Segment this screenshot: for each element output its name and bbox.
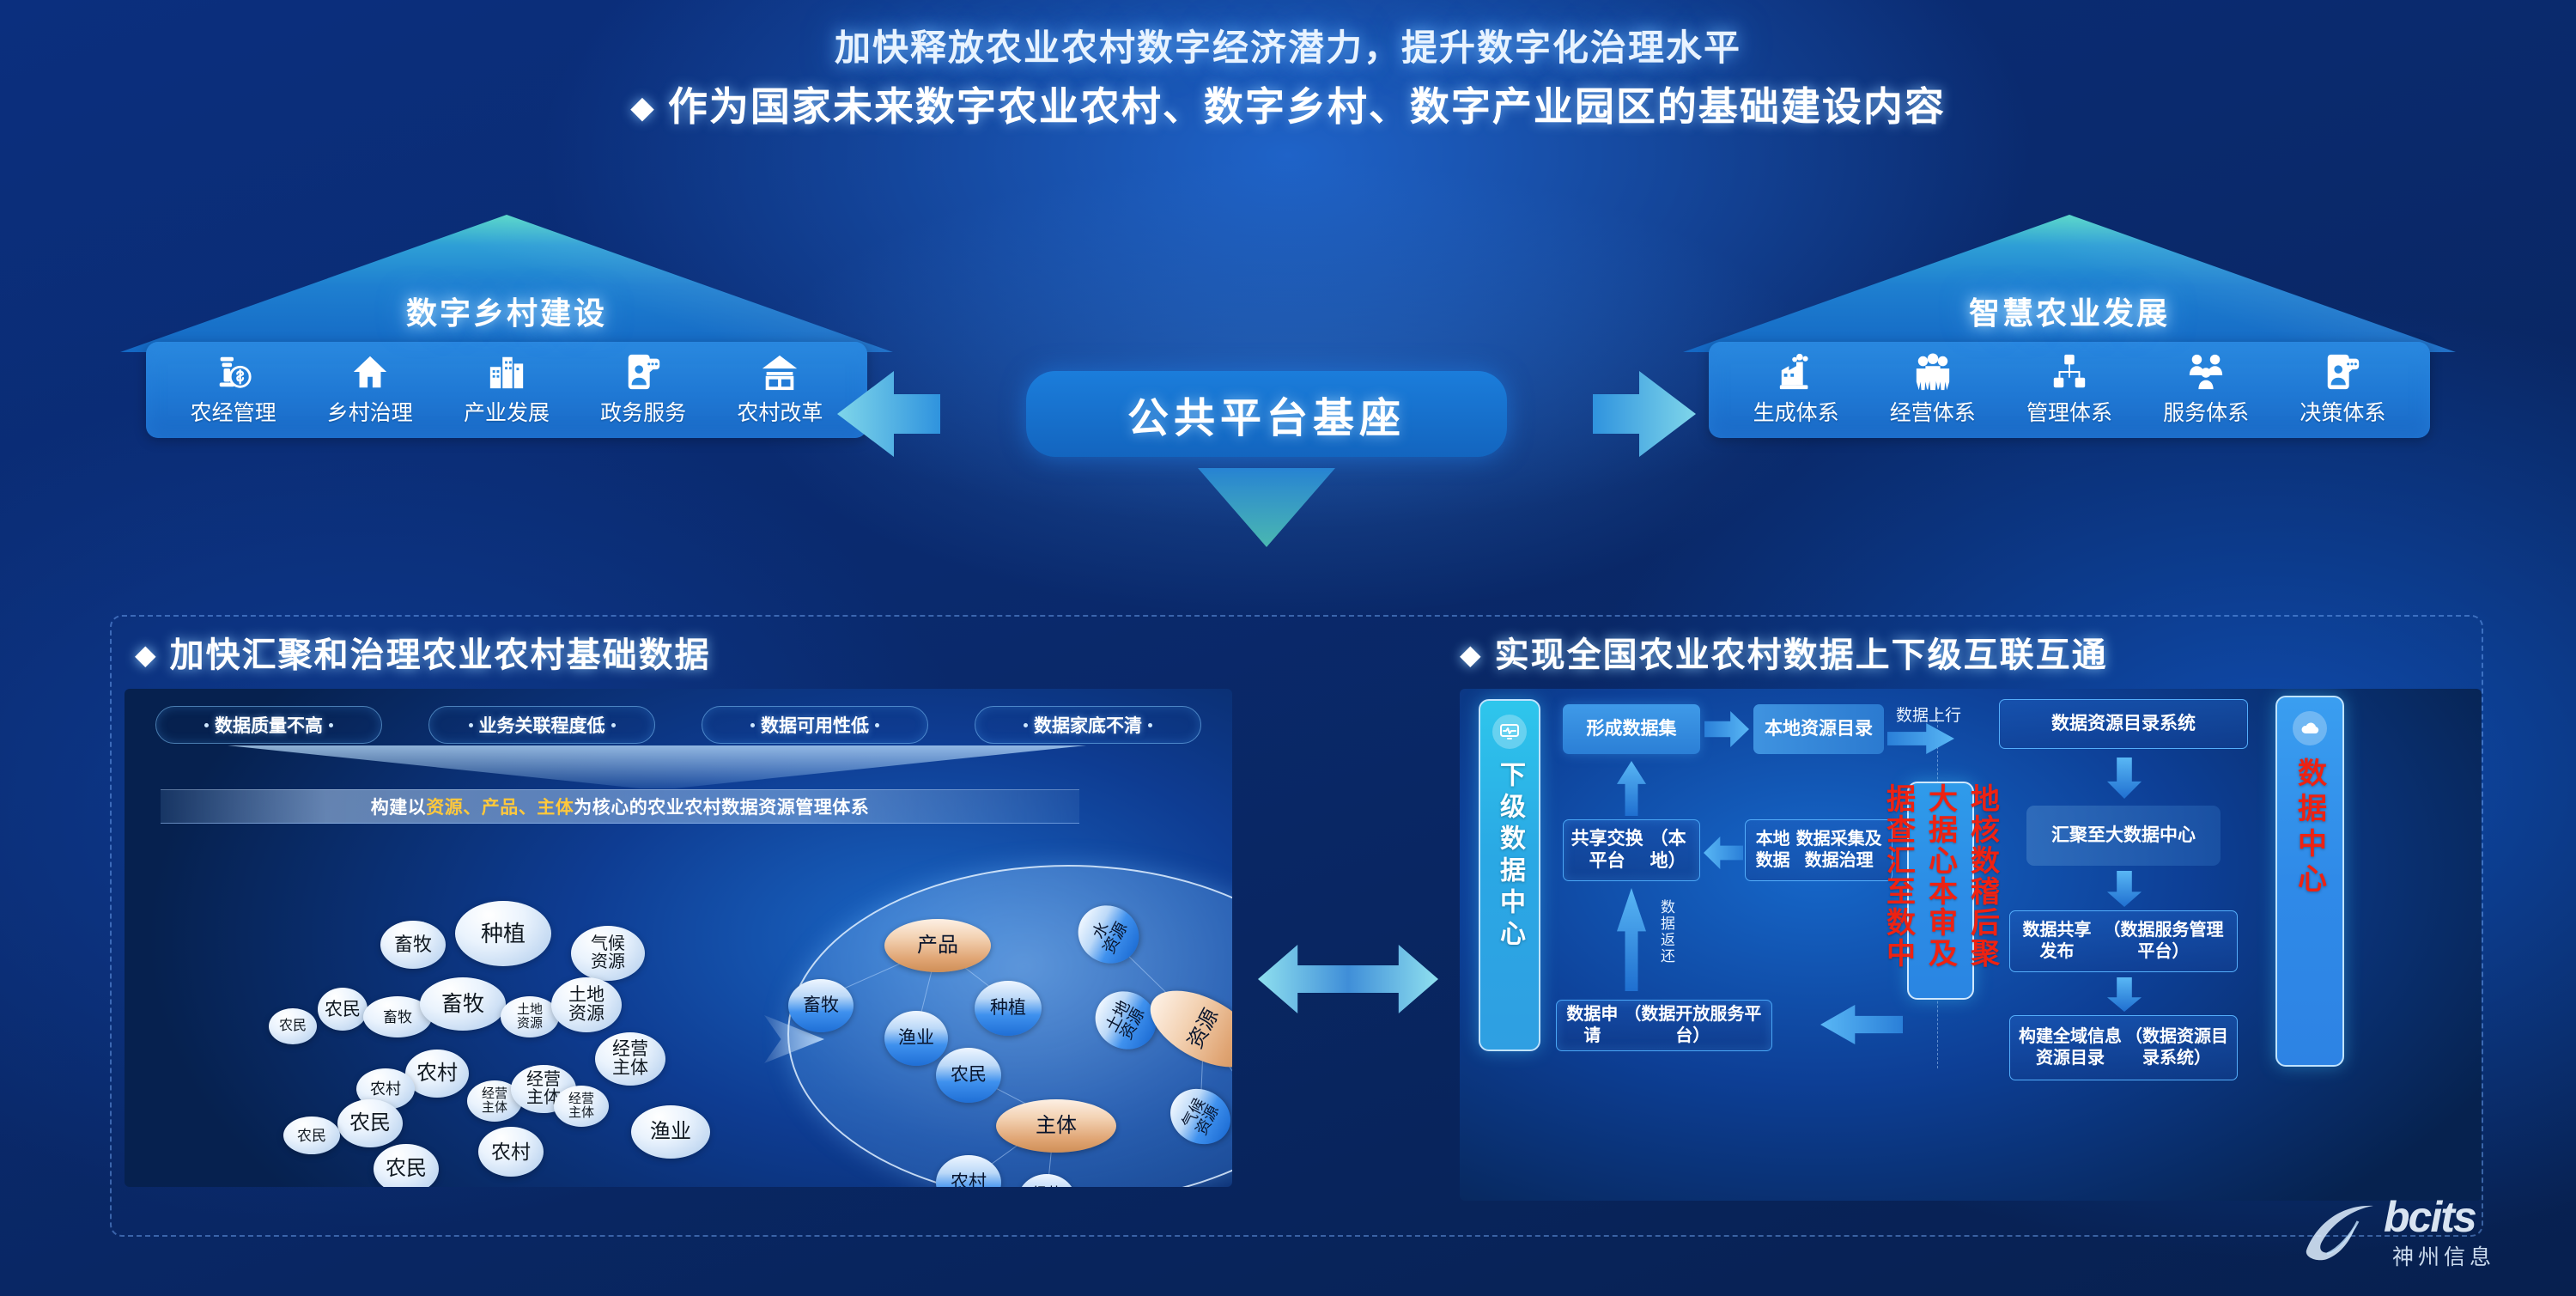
- roof-label-smart-agriculture: 智慧农业发展: [1683, 289, 2456, 333]
- org-chart-icon: [2050, 352, 2089, 392]
- pillar-management-system[interactable]: 管理体系: [2026, 352, 2112, 427]
- arrow-down-2: [2107, 871, 2142, 907]
- raw-data-bubble: 农村: [478, 1127, 544, 1177]
- raw-data-bubble: 农民: [337, 1099, 403, 1147]
- panel-body-right: 下级数据中心 形成数据集 共享交换平台（本地） 数据返还 数据申请（数据开放服务…: [1460, 689, 2482, 1201]
- box-form-dataset[interactable]: 形成数据集: [1563, 704, 1700, 754]
- home-icon: [350, 352, 390, 392]
- pillar-label: 政务服务: [600, 396, 686, 427]
- banner-post: 为核心的农业农村数据资源管理体系: [574, 798, 869, 818]
- people-group-icon: [1913, 352, 1953, 392]
- pillar-government-service[interactable]: 政务服务: [600, 352, 686, 427]
- banner-highlight: 资源、产品、主体: [426, 798, 574, 818]
- arrow-up-data-return: [1617, 888, 1646, 991]
- core-system-banner-text: 构建以资源、产品、主体为核心的农业农村数据资源管理体系: [371, 794, 870, 819]
- pillar-industry-development[interactable]: 产业发展: [464, 352, 550, 427]
- panel-title-right-text: 实现全国农业农村数据上下级互联互通: [1495, 636, 2108, 674]
- raw-data-bubble: 农民: [318, 988, 368, 1031]
- problem-pill[interactable]: 数据家底不清: [975, 706, 1201, 744]
- mobile-service-icon: [2323, 352, 2362, 392]
- company-logo: bcits 神州信息: [2301, 1187, 2559, 1281]
- raw-data-bubble: 农村: [405, 1050, 469, 1098]
- public-platform-base[interactable]: 公共平台基座: [1026, 371, 1507, 457]
- panel-data-aggregation: ◆加快汇聚和治理农业农村基础数据 数据质量不高业务关联程度低数据可用性低数据家底…: [125, 627, 1232, 1228]
- arrow-localdata-to-exchange: [1704, 837, 1743, 869]
- arrow-back-to-apply: [1820, 1005, 1903, 1044]
- panel-title-left-text: 加快汇聚和治理农业农村基础数据: [170, 636, 711, 674]
- pillar-label: 服务体系: [2163, 396, 2249, 427]
- box-exchange-platform[interactable]: 共享交换平台（本地）: [1563, 819, 1700, 881]
- bullet-dot-icon: [1024, 723, 1028, 727]
- organized-data-bubble: 产品: [884, 919, 991, 972]
- panel-data-interconnection: ◆实现全国农业农村数据上下级互联互通 下级数据中心 形成数据集 共享交换平台（本…: [1460, 627, 2482, 1228]
- lower-data-center-label: 下级数据中心: [1491, 761, 1528, 952]
- pillar-label: 管理体系: [2026, 396, 2112, 427]
- box-local-catalog[interactable]: 本地资源目录: [1753, 704, 1884, 754]
- money-management-icon: [214, 352, 253, 392]
- pillar-label: 农经管理: [191, 396, 276, 427]
- bullet-dot-icon: [875, 723, 879, 727]
- pillar-label: 乡村治理: [327, 396, 413, 427]
- bullet-dot-icon: [611, 723, 616, 727]
- monitor-icon: [1492, 715, 1527, 749]
- bullet-dot-icon: [329, 723, 333, 727]
- bullet-dot-icon: [1148, 723, 1152, 727]
- panel-body-left: 数据质量不高业务关联程度低数据可用性低数据家底不清 构建以资源、产品、主体为核心…: [125, 689, 1232, 1187]
- bullet-dot-icon: [204, 723, 209, 727]
- logo-subtitle: 神州信息: [2392, 1240, 2495, 1271]
- data-center-label: 数据中心: [2289, 758, 2331, 898]
- village-house-icon: [760, 352, 799, 392]
- raw-data-bubble: 畜牧: [380, 921, 446, 969]
- box-global-catalog[interactable]: 构建全域信息资源目录（数据资源目录系统）: [2009, 1015, 2238, 1080]
- box-local-data-governance[interactable]: 本地数据数据采集及数据治理: [1745, 819, 1893, 881]
- page-headline-secondary: ◆作为国家未来数字农业农村、数字乡村、数字产业园区的基础建设内容: [0, 76, 2576, 132]
- pillar-decision-system[interactable]: 决策体系: [2300, 352, 2385, 427]
- arrow-down-1: [2107, 758, 2142, 799]
- house-digital-village: 数字乡村建设 农经管理 乡村治理 产业发展 政务服务: [120, 215, 893, 429]
- label-data-return: 数据返还: [1656, 899, 1677, 964]
- arrow-down-3: [2107, 977, 2142, 1012]
- organized-data-bubble: 畜牧: [788, 979, 854, 1032]
- pillar-label: 产业发展: [464, 396, 550, 427]
- arrow-up-to-dataset: [1617, 761, 1646, 816]
- raw-data-bubble: 农民: [283, 1117, 340, 1154]
- pillar-village-governance[interactable]: 乡村治理: [327, 352, 413, 427]
- factory-icon: [1777, 352, 1816, 392]
- problem-pill-label: 业务关联程度低: [479, 712, 605, 738]
- funnel-shape: [228, 745, 1086, 788]
- pillar-label: 决策体系: [2300, 396, 2385, 427]
- pillar-service-system[interactable]: 服务体系: [2163, 352, 2249, 427]
- box-catalog-system[interactable]: 数据资源目录系统: [1999, 699, 2248, 749]
- box-data-publish[interactable]: 数据共享发布（数据服务管理平台）: [2009, 910, 2238, 972]
- house-smart-agriculture: 智慧农业发展 生成体系 经营体系 管理体系 服务体系: [1683, 215, 2456, 429]
- bullet-dot-icon: [750, 723, 755, 727]
- pillar-label: 农村改革: [737, 396, 823, 427]
- diamond-bullet-icon: ◆: [1460, 639, 1483, 670]
- house-base-smart-agriculture: 生成体系 经营体系 管理体系 服务体系 决策体系: [1709, 342, 2430, 438]
- diamond-bullet-icon: ◆: [630, 89, 656, 125]
- pillar-agri-economy[interactable]: 农经管理: [191, 352, 276, 427]
- pillar-rural-reform[interactable]: 农村改革: [737, 352, 823, 427]
- pillar-operation-system[interactable]: 经营体系: [1890, 352, 1976, 427]
- house-base-digital-village: 农经管理 乡村治理 产业发展 政务服务 农村改革: [146, 342, 867, 438]
- data-center-bar[interactable]: 数据中心: [2275, 696, 2344, 1067]
- problem-pill[interactable]: 数据质量不高: [155, 706, 382, 744]
- problem-pill-label: 数据可用性低: [761, 712, 869, 738]
- problem-pill[interactable]: 数据可用性低: [702, 706, 928, 744]
- page-headline-primary: 加快释放农业农村数字经济潜力，提升数字化治理水平: [0, 19, 2576, 71]
- raw-data-bubble: 土地资源: [501, 996, 559, 1037]
- problem-pill[interactable]: 业务关联程度低: [428, 706, 655, 744]
- pillar-production-system[interactable]: 生成体系: [1753, 352, 1839, 427]
- raw-data-bubble: 畜牧: [420, 977, 506, 1031]
- mobile-service-icon: [623, 352, 663, 392]
- panel-title-right: ◆实现全国农业农村数据上下级互联互通: [1460, 627, 2482, 677]
- raw-data-bubble: 种植: [455, 901, 551, 966]
- logo-wordmark: bcits: [2384, 1192, 2476, 1242]
- banner-pre: 构建以: [371, 798, 427, 818]
- red-vertical-note-text: 地核数稽后聚大据心本审及据查汇至数中: [1878, 783, 2004, 998]
- pillar-label: 经营体系: [1890, 396, 1976, 427]
- public-platform-base-label: 公共平台基座: [1127, 384, 1406, 444]
- raw-data-bubble: 农民: [269, 1008, 317, 1044]
- organized-data-bubble: 主体: [996, 1099, 1116, 1153]
- organized-data-bubble: 种植: [975, 981, 1042, 1036]
- problem-pill-list: 数据质量不高业务关联程度低数据可用性低数据家底不清: [155, 706, 1201, 744]
- panel-title-left: ◆加快汇聚和治理农业农村基础数据: [125, 627, 1232, 677]
- raw-data-bubble: 气候资源: [571, 926, 645, 981]
- diamond-bullet-icon: ◆: [135, 639, 158, 670]
- problem-pill-label: 数据质量不高: [215, 712, 323, 738]
- arrow-dataset-to-catalog: [1704, 711, 1749, 747]
- logo-swoosh-icon: [2301, 1197, 2384, 1261]
- roof-label-digital-village: 数字乡村建设: [120, 289, 893, 333]
- raw-data-bubble: 农民: [374, 1144, 439, 1187]
- organized-data-bubble: 渔业: [884, 1011, 948, 1066]
- page-headline-secondary-text: 作为国家未来数字农业农村、数字乡村、数字产业园区的基础建设内容: [668, 84, 1946, 129]
- raw-data-bubble: 渔业: [631, 1105, 710, 1159]
- problem-pill-label: 数据家底不清: [1034, 712, 1142, 738]
- raw-data-bubble: 土地资源: [551, 977, 622, 1032]
- label-data-upload: 数据上行: [1896, 703, 1961, 726]
- service-people-icon: [2186, 352, 2226, 392]
- pillar-label: 生成体系: [1753, 396, 1839, 427]
- raw-data-bubble: 经营主体: [554, 1086, 609, 1127]
- buildings-icon: [487, 352, 526, 392]
- box-data-apply[interactable]: 数据申请（数据开放服务平台）: [1556, 1000, 1772, 1051]
- core-system-banner: 构建以资源、产品、主体为核心的农业农村数据资源管理体系: [161, 789, 1079, 824]
- arrow-data-upload: [1887, 723, 1954, 754]
- bullet-dot-icon: [469, 723, 473, 727]
- box-aggregate-to-center[interactable]: 汇聚至大数据中心: [2026, 806, 2221, 866]
- red-vertical-note: 地核数稽后聚大据心本审及据查汇至数中: [1907, 782, 1974, 1000]
- raw-data-bubble: 经营主体: [595, 1032, 665, 1086]
- organized-data-bubble: 农民: [936, 1048, 1001, 1103]
- lower-data-center-bar[interactable]: 下级数据中心: [1479, 699, 1540, 1051]
- cloud-icon: [2293, 711, 2327, 745]
